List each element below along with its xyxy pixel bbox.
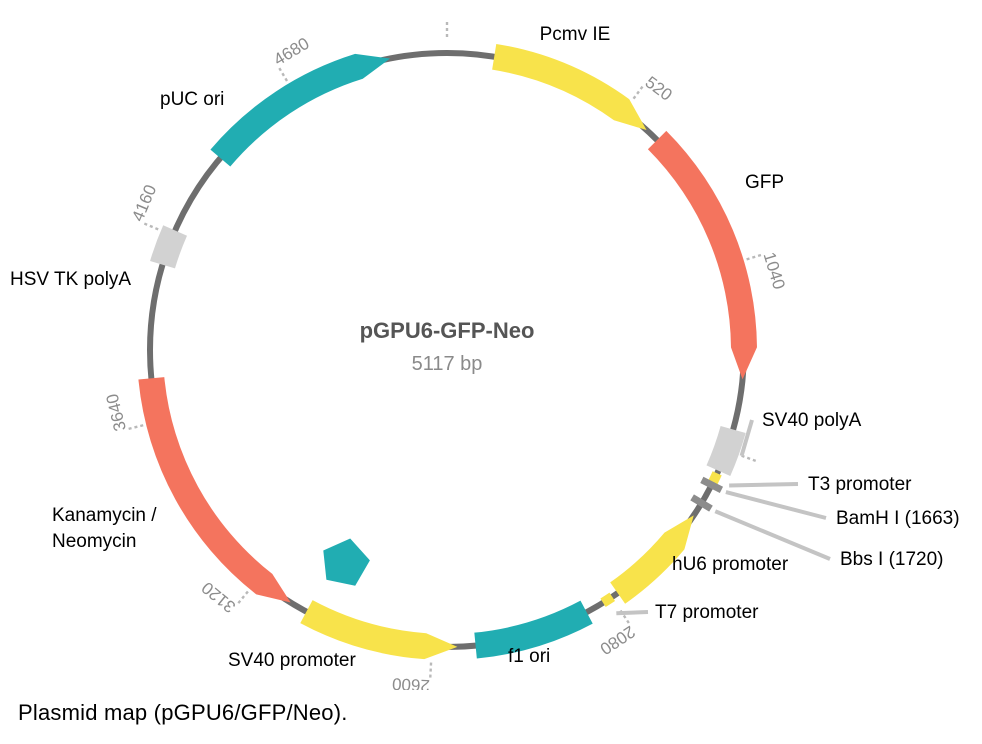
plasmid-center-text: pGPU6-GFP-Neo 5117 bp [360, 318, 535, 375]
feature-label-12: pUC ori [160, 89, 224, 110]
tick-label-3120: 3120 [198, 578, 239, 617]
feature-arc-2[interactable] [707, 426, 746, 476]
tick-label-2600: 2600 [392, 674, 431, 690]
plasmid-map-svg: 5201040208026003120364041604680 Pcmv IEG… [0, 0, 982, 690]
tick-mark-1560 [742, 456, 756, 461]
feature-arc-0[interactable] [492, 44, 646, 130]
tick-mark-1040 [747, 255, 761, 259]
feature-label-0: Pcmv IE [540, 24, 611, 45]
feature-label-6: hU6 promoter [672, 554, 789, 575]
pentagon-marker-shape[interactable] [323, 539, 370, 586]
feature-label-8: f1 ori [508, 646, 550, 667]
feature-label-1: GFP [745, 172, 784, 193]
tick-mark-3120 [238, 592, 248, 604]
feature-label-7: T7 promoter [655, 602, 759, 623]
tick-label-3640: 3640 [103, 392, 131, 433]
feature-label-9: SV40 promoter [228, 650, 356, 671]
leader-line-3 [715, 511, 830, 559]
feature-label-4: BamH I (1663) [836, 508, 960, 529]
tick-label-1040: 1040 [760, 250, 789, 292]
tick-label-520: 520 [642, 73, 676, 105]
feature-label-11: HSV TK polyA [10, 269, 131, 290]
tick-mark-4160 [144, 224, 158, 230]
plasmid-map-figure: 5201040208026003120364041604680 Pcmv IEG… [0, 0, 982, 690]
feature-arc-11[interactable] [150, 225, 187, 268]
feature-arc-10[interactable] [138, 377, 290, 602]
feature-label-10-line2: Neomycin [52, 531, 136, 552]
tick-mark-3640 [129, 425, 144, 429]
tick-label-4680: 4680 [270, 34, 312, 70]
plasmid-size: 5117 bp [412, 353, 483, 375]
feature-label-3: T3 promoter [808, 474, 912, 495]
feature-arc-1[interactable] [648, 131, 757, 380]
tick-mark-520 [634, 87, 643, 99]
feature-label-5: Bbs I (1720) [840, 549, 944, 570]
feature-label-10: Kanamycin / [52, 505, 157, 526]
tick-label-2080: 2080 [597, 622, 639, 659]
leader-line-4 [616, 612, 648, 613]
plasmid-name: pGPU6-GFP-Neo [360, 318, 535, 343]
leader-line-2 [726, 492, 826, 518]
tick-mark-2600 [430, 663, 431, 678]
tick-mark-4680 [279, 68, 287, 81]
plasmid-features [138, 44, 757, 659]
pentagon-marker [323, 539, 370, 586]
feature-arc-12[interactable] [210, 54, 390, 167]
leader-line-1 [729, 484, 798, 486]
restriction-site-5[interactable] [692, 497, 711, 508]
tick-label-4160: 4160 [128, 182, 160, 224]
feature-label-2: SV40 polyA [762, 410, 862, 431]
figure-caption: Plasmid map (pGPU6/GFP/Neo). [18, 700, 348, 726]
